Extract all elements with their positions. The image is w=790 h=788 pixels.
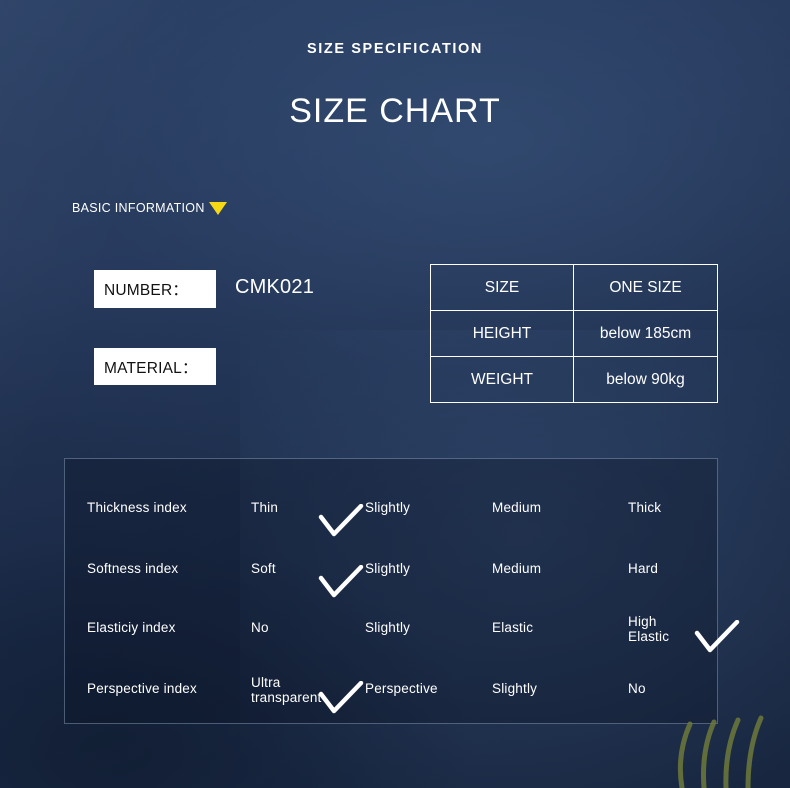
triangle-down-icon (209, 202, 227, 215)
basic-information-label: BASIC INFORMATION (72, 201, 205, 215)
index-row-elasticity: Elasticiy index No Slightly Elastic High… (65, 606, 717, 666)
spec-key-height: HEIGHT (431, 311, 574, 357)
index-row-softness: Softness index Soft Slightly Medium Hard (65, 547, 717, 607)
checkmark-icon (318, 681, 364, 715)
spec-table: SIZE ONE SIZE HEIGHT below 185cm WEIGHT … (430, 264, 718, 403)
basic-information-heading: BASIC INFORMATION (72, 200, 227, 215)
size-chart-page: SIZE SPECIFICATION SIZE CHART BASIC INFO… (0, 0, 790, 788)
index-option-slightly: Slightly (365, 561, 410, 576)
index-option-hard: Hard (628, 561, 658, 576)
checkmark-icon (694, 620, 740, 654)
index-row-perspective: Perspective index Ultra transparent Pers… (65, 667, 717, 727)
table-row: SIZE ONE SIZE (431, 265, 718, 311)
index-option-elastic: Elastic (492, 620, 533, 635)
material-label-box: MATERIAL： (94, 348, 216, 385)
index-option-no: No (251, 620, 269, 635)
index-option-no: No (628, 681, 646, 696)
table-row: HEIGHT below 185cm (431, 311, 718, 357)
index-row-label: Perspective index (87, 681, 197, 696)
index-option-thin: Thin (251, 500, 278, 515)
index-option-slightly: Slightly (492, 681, 537, 696)
index-row-label: Thickness index (87, 500, 187, 515)
index-row-label: Elasticiy index (87, 620, 176, 635)
index-option-slightly: Slightly (365, 620, 410, 635)
index-option-thick: Thick (628, 500, 661, 515)
spec-key-weight: WEIGHT (431, 357, 574, 403)
spec-value-weight: below 90kg (574, 357, 718, 403)
index-option-soft: Soft (251, 561, 276, 576)
page-title: SIZE CHART (0, 92, 790, 131)
page-subtitle: SIZE SPECIFICATION (0, 41, 790, 57)
index-panel: Thickness index Thin Slightly Medium Thi… (64, 458, 718, 724)
spec-value-height: below 185cm (574, 311, 718, 357)
index-option-perspective: Perspective (365, 681, 438, 696)
index-option-medium: Medium (492, 561, 541, 576)
spec-table-body: SIZE ONE SIZE HEIGHT below 185cm WEIGHT … (431, 265, 718, 403)
index-option-medium: Medium (492, 500, 541, 515)
number-label-box: NUMBER： (94, 270, 216, 308)
index-option-high-elastic: High Elastic (628, 614, 669, 644)
index-option-slightly: Slightly (365, 500, 410, 515)
number-value: CMK021 (235, 276, 314, 299)
table-row: WEIGHT below 90kg (431, 357, 718, 403)
index-row-thickness: Thickness index Thin Slightly Medium Thi… (65, 486, 717, 546)
checkmark-icon (318, 504, 364, 538)
checkmark-icon (318, 565, 364, 599)
spec-value-size: ONE SIZE (574, 265, 718, 311)
spec-key-size: SIZE (431, 265, 574, 311)
index-row-label: Softness index (87, 561, 178, 576)
index-option-ultra-transparent: Ultra transparent (251, 675, 322, 705)
